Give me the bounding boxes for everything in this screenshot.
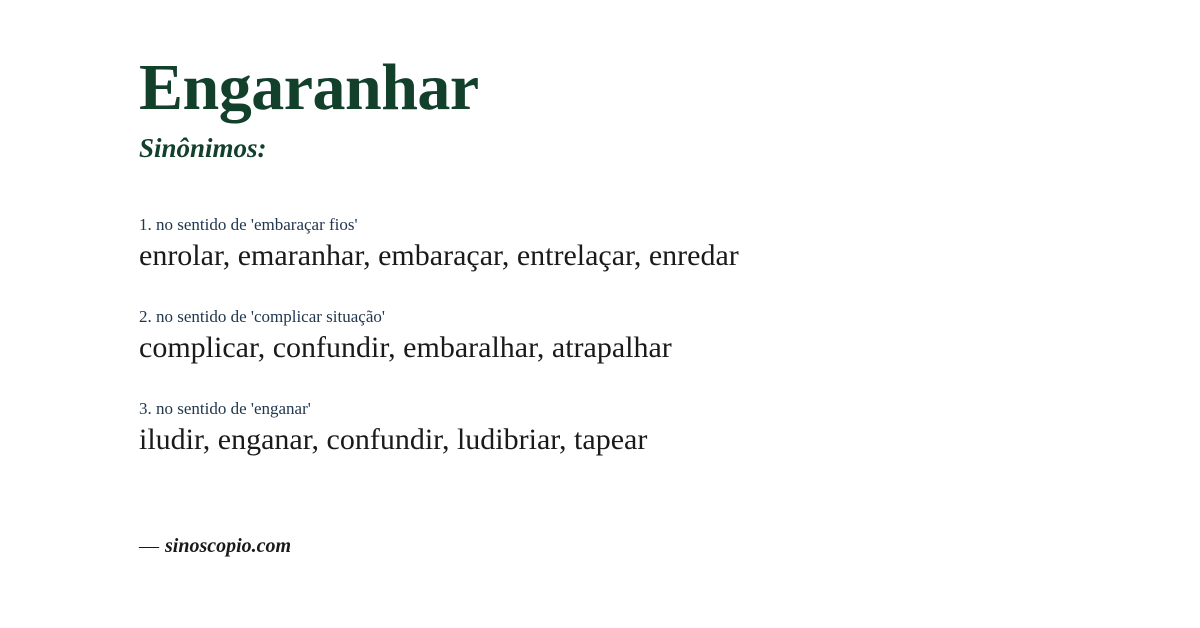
source-site: sinoscopio.com [165,535,291,557]
sense-label: 2. no sentido de 'complicar situação' [139,307,1140,327]
sense-synonyms: complicar, confundir, embaralhar, atrapa… [139,329,1140,367]
sense-list: 1. no sentido de 'embaraçar fios' enrola… [139,215,1140,459]
sense-label: 1. no sentido de 'embaraçar fios' [139,215,1140,235]
attribution: —sinoscopio.com [139,534,291,558]
sense-entry: 1. no sentido de 'embaraçar fios' enrola… [139,215,1140,275]
synonym-card: Engaranhar Sinônimos: 1. no sentido de '… [0,0,1200,628]
sense-label: 3. no sentido de 'enganar' [139,399,1140,419]
sense-synonyms: iludir, enganar, confundir, ludibriar, t… [139,421,1140,459]
em-dash-icon: — [139,535,159,557]
sense-entry: 2. no sentido de 'complicar situação' co… [139,307,1140,367]
subtitle-synonyms: Sinônimos: [139,135,1140,162]
card-content: Engaranhar Sinônimos: 1. no sentido de '… [139,55,1140,459]
page-title: Engaranhar [139,55,1140,121]
sense-synonyms: enrolar, emaranhar, embaraçar, entrelaça… [139,237,1140,275]
sense-entry: 3. no sentido de 'enganar' iludir, engan… [139,399,1140,459]
